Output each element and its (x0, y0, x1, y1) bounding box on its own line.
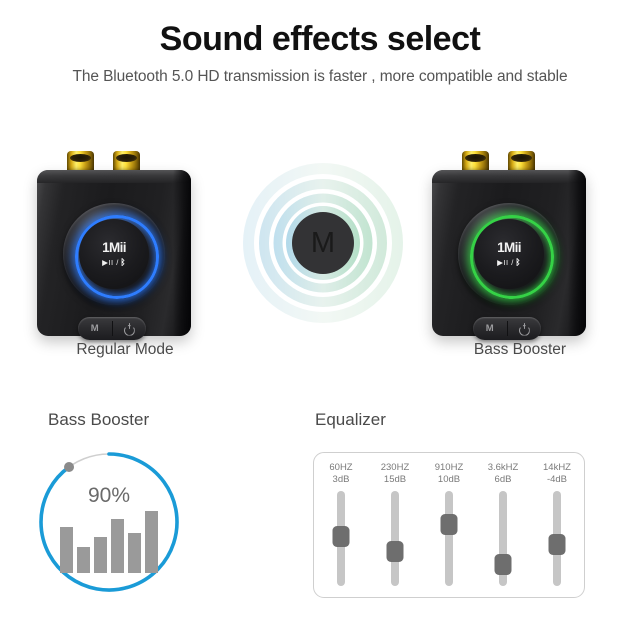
band-gain-label: 10dB (438, 474, 460, 486)
equalizer-band-60hz: 60HZ3dB (314, 453, 368, 597)
band-gain-label: 6dB (495, 474, 512, 486)
mode-button[interactable]: M (473, 317, 507, 340)
power-icon (519, 323, 530, 334)
equalizer-panel: 60HZ3dB230HZ15dB910HZ10dB3.6kHZ6dB14kHZ-… (313, 452, 585, 598)
led-indicator: 1Mii ▶II / ᛒ (458, 203, 560, 305)
equalizer-section-title: Equalizer (315, 410, 386, 430)
device-top-edge (432, 170, 586, 183)
slider-handle[interactable] (441, 514, 458, 535)
button-group: M (473, 317, 541, 340)
device-regular-mode: 1Mii ▶II / ᛒ M Regular Mode (25, 145, 225, 360)
band-frequency-label: 3.6kHZ (488, 462, 519, 474)
equalizer-bands: 60HZ3dB230HZ15dB910HZ10dB3.6kHZ6dB14kHZ-… (314, 453, 584, 597)
band-slider[interactable] (336, 491, 347, 586)
band-slider[interactable] (498, 491, 509, 586)
led-face: 1Mii ▶II / ᛒ (474, 219, 544, 289)
led-face: 1Mii ▶II / ᛒ (79, 219, 149, 289)
page-subtitle: The Bluetooth 5.0 HD transmission is fas… (0, 68, 640, 86)
band-gain-label: 15dB (384, 474, 406, 486)
brand-logo: 1Mii (102, 241, 126, 255)
page-title: Sound effects select (0, 20, 640, 59)
power-button[interactable] (508, 317, 542, 340)
gauge-bar (77, 547, 90, 573)
band-frequency-label: 230HZ (381, 462, 410, 474)
equalizer-band-14khz: 14kHZ-4dB (530, 453, 584, 597)
equalizer-band-910hz: 910HZ10dB (422, 453, 476, 597)
bluetooth-icon: ᛒ (120, 258, 126, 266)
equalizer-band-3.6khz: 3.6kHZ6dB (476, 453, 530, 597)
device-top-edge (37, 170, 191, 183)
bass-booster-section-title: Bass Booster (48, 410, 149, 430)
play-pause-icon: ▶II / (497, 259, 514, 267)
band-slider[interactable] (552, 491, 563, 586)
button-group: M (78, 317, 146, 340)
gauge-bar (145, 511, 158, 573)
band-gain-label: -4dB (547, 474, 567, 486)
device-right-edge (568, 170, 586, 336)
power-icon (124, 323, 135, 334)
led-indicator: 1Mii ▶II / ᛒ (63, 203, 165, 305)
play-pause-icon: ▶II / (102, 259, 119, 267)
playback-icon-row: ▶II / ᛒ (102, 258, 126, 266)
gauge-bar (94, 537, 107, 573)
band-frequency-label: 60HZ (329, 462, 352, 474)
bass-booster-gauge[interactable]: 90% (35, 448, 183, 596)
slider-handle[interactable] (549, 534, 566, 555)
gauge-bar-chart (35, 448, 183, 596)
power-button[interactable] (113, 317, 147, 340)
gauge-bar (111, 519, 124, 573)
sound-wave-center: M (292, 212, 354, 274)
band-slider[interactable] (390, 491, 401, 586)
gauge-bar (128, 533, 141, 573)
slider-track[interactable] (445, 491, 453, 586)
band-gain-label: 3dB (333, 474, 350, 486)
device-bass-booster: 1Mii ▶II / ᛒ M Bass Booster (420, 145, 620, 360)
brand-logo: 1Mii (497, 241, 521, 255)
slider-handle[interactable] (495, 554, 512, 575)
band-frequency-label: 910HZ (435, 462, 464, 474)
band-slider[interactable] (444, 491, 455, 586)
gauge-bar (60, 527, 73, 573)
playback-icon-row: ▶II / ᛒ (497, 258, 521, 266)
device-caption-bass: Bass Booster (420, 341, 620, 359)
equalizer-band-230hz: 230HZ15dB (368, 453, 422, 597)
gauge-percent-label: 90% (35, 484, 183, 508)
mode-button[interactable]: M (78, 317, 112, 340)
device-caption-regular: Regular Mode (25, 341, 225, 359)
bluetooth-icon: ᛒ (515, 258, 521, 266)
band-frequency-label: 14kHZ (543, 462, 571, 474)
slider-track[interactable] (391, 491, 399, 586)
slider-handle[interactable] (333, 526, 350, 547)
device-right-edge (173, 170, 191, 336)
sound-wave-graphic: M (243, 163, 403, 323)
slider-handle[interactable] (387, 541, 404, 562)
